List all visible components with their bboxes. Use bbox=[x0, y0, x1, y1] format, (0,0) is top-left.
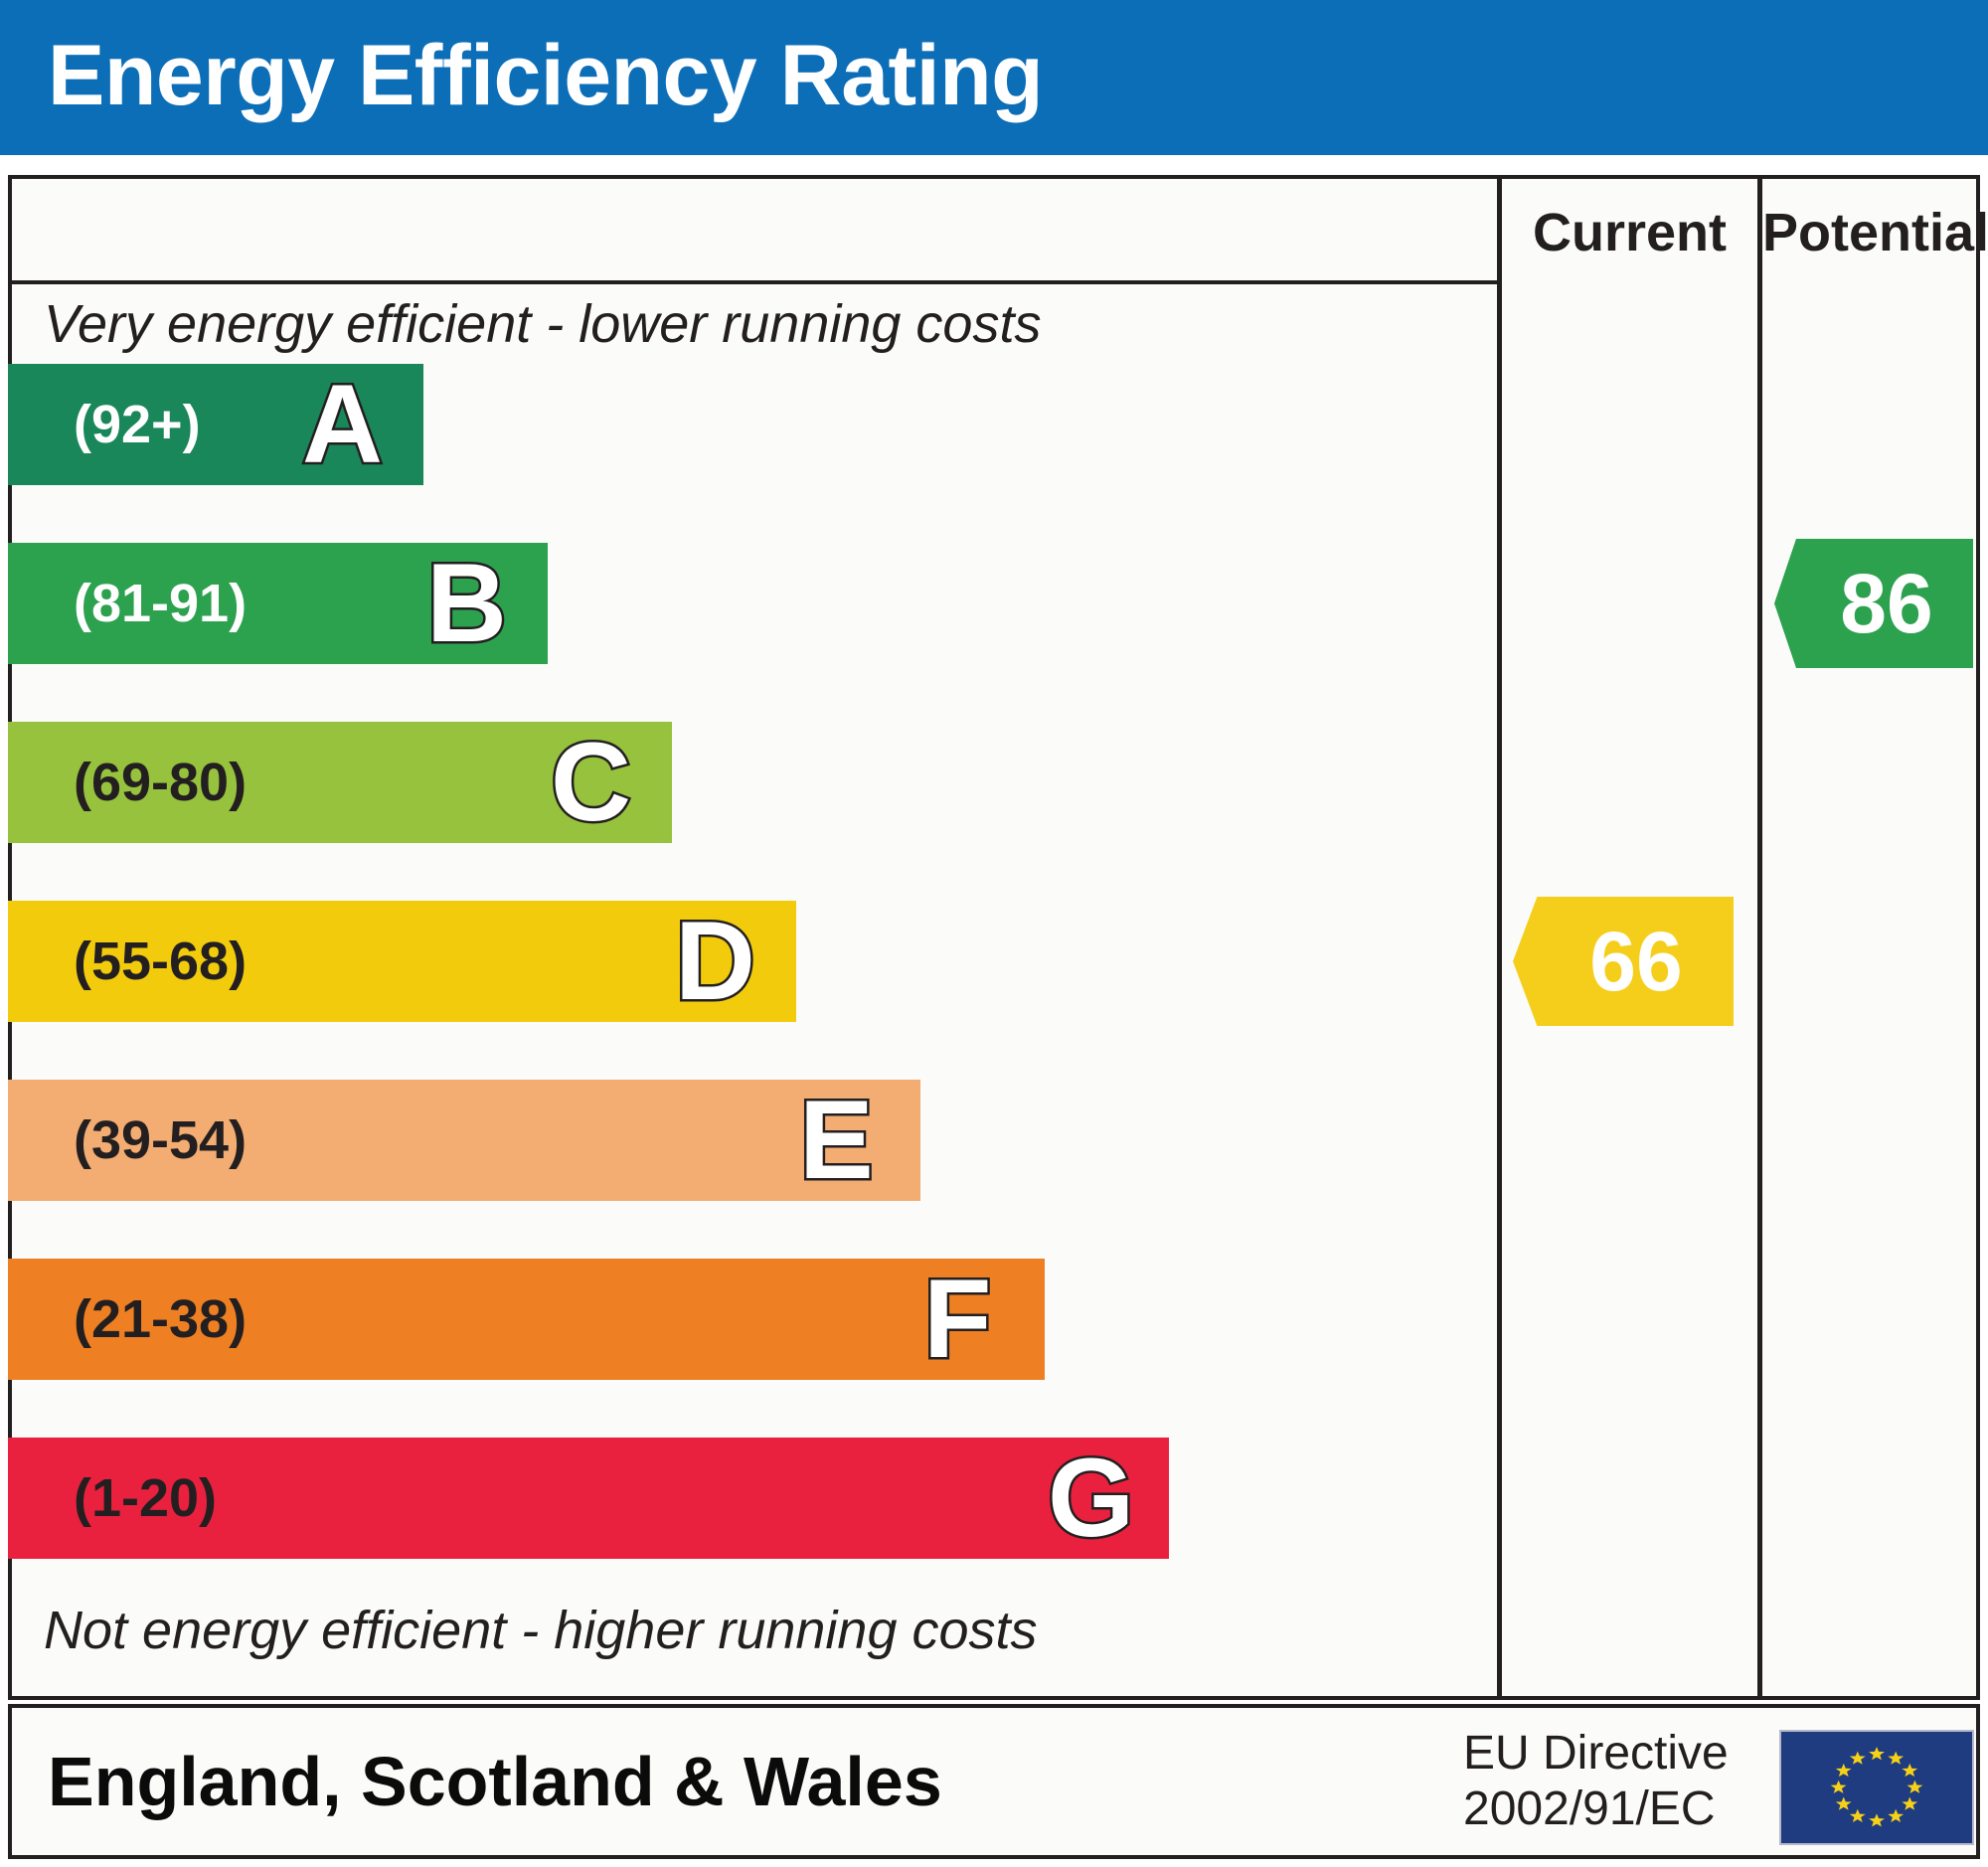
rating-band-d: (55-68)D bbox=[8, 901, 796, 1022]
column-header-current: Current bbox=[1502, 195, 1757, 270]
eu-flag-icon bbox=[1779, 1730, 1974, 1845]
caption-very-efficient: Very energy efficient - lower running co… bbox=[44, 294, 1041, 354]
band-letter-label: F bbox=[923, 1264, 991, 1375]
eu-directive-line2: 2002/91/EC bbox=[1463, 1782, 1729, 1837]
rating-band-g: (1-20)G bbox=[8, 1438, 1169, 1559]
potential-rating-badge: 86 bbox=[1774, 539, 1973, 668]
potential-rating-badge-value: 86 bbox=[1774, 539, 1973, 668]
current-rating-badge-value: 66 bbox=[1513, 897, 1734, 1026]
footer-bar: England, Scotland & Wales EU Directive 2… bbox=[8, 1704, 1980, 1859]
band-range-label: (1-20) bbox=[74, 1438, 217, 1559]
band-letter-label: D bbox=[675, 906, 755, 1017]
eu-directive-label: EU Directive 2002/91/EC bbox=[1463, 1726, 1729, 1837]
current-rating-badge: 66 bbox=[1513, 897, 1734, 1026]
band-range-label: (81-91) bbox=[74, 543, 247, 664]
band-letter-label: C bbox=[551, 727, 631, 838]
band-range-label: (21-38) bbox=[74, 1259, 247, 1380]
title-banner: Energy Efficiency Rating bbox=[0, 0, 1988, 155]
column-header-potential: Potential bbox=[1762, 195, 1980, 270]
rating-band-b: (81-91)B bbox=[8, 543, 548, 664]
footer-region-label: England, Scotland & Wales bbox=[48, 1730, 942, 1833]
band-range-label: (39-54) bbox=[74, 1080, 247, 1201]
rating-band-a: (92+)A bbox=[8, 364, 423, 485]
band-range-label: (55-68) bbox=[74, 901, 247, 1022]
rating-band-f: (21-38)F bbox=[8, 1259, 1045, 1380]
rating-band-e: (39-54)E bbox=[8, 1080, 920, 1201]
band-letter-label: B bbox=[426, 548, 507, 659]
band-letter-label: E bbox=[799, 1085, 874, 1196]
band-letter-label: G bbox=[1048, 1443, 1134, 1554]
potential-column-divider bbox=[1757, 175, 1762, 1700]
band-range-label: (92+) bbox=[74, 364, 201, 485]
current-column-divider bbox=[1497, 175, 1502, 1700]
band-letter-label: A bbox=[302, 369, 383, 480]
header-divider bbox=[8, 280, 1499, 284]
band-range-label: (69-80) bbox=[74, 722, 247, 843]
rating-band-c: (69-80)C bbox=[8, 722, 672, 843]
energy-efficiency-rating-chart: Energy Efficiency Rating Current Potenti… bbox=[0, 0, 1988, 1867]
caption-not-efficient: Not energy efficient - higher running co… bbox=[44, 1601, 1038, 1660]
page-title: Energy Efficiency Rating bbox=[48, 24, 1043, 127]
eu-directive-line1: EU Directive bbox=[1463, 1726, 1729, 1782]
